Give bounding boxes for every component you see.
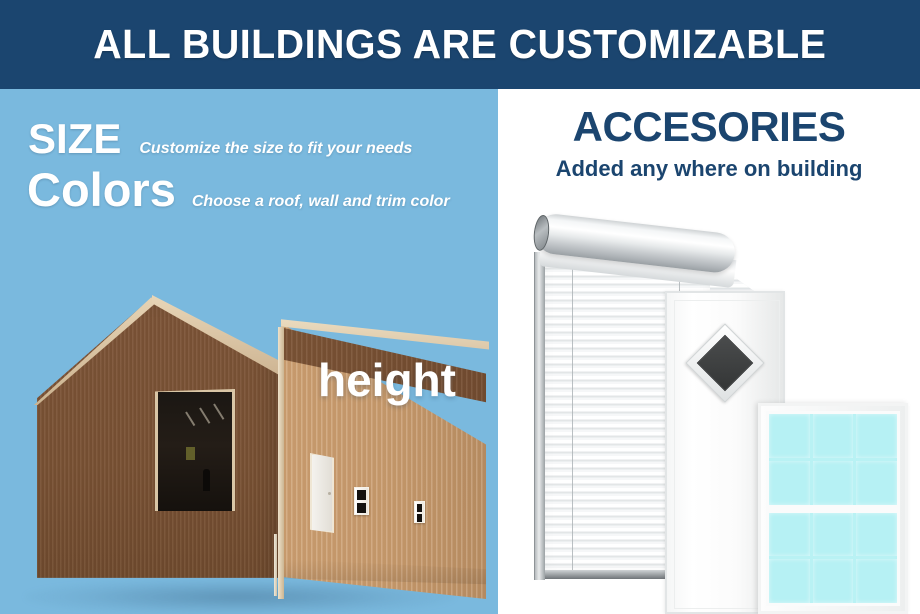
window-pane <box>769 559 810 603</box>
window-pane <box>769 513 810 557</box>
window-pane <box>856 414 897 458</box>
accessories-title: ACCESORIES <box>498 106 920 148</box>
dimension-label-height: height <box>318 357 456 403</box>
window-lower-sash <box>766 509 900 607</box>
window-pane <box>813 414 854 458</box>
window-pane <box>856 559 897 603</box>
building-interior-light <box>186 447 195 460</box>
building-garage-opening <box>155 389 235 511</box>
feature-colors-heading: Colors <box>27 166 176 213</box>
window-pane <box>813 559 854 603</box>
roll-up-door-track <box>534 252 545 580</box>
accessories-subtitle: Added any where on building <box>498 158 920 180</box>
window-upper-sash <box>766 411 900 509</box>
window-pane <box>357 490 366 500</box>
building-corner-trim <box>278 327 284 599</box>
page-title: ALL BUILDINGS ARE CUSTOMIZABLE <box>93 21 826 68</box>
window-pane <box>357 503 366 513</box>
diamond-window-glass <box>697 335 754 392</box>
promo-poster: ALL BUILDINGS ARE CUSTOMIZABLE SIZE Cust… <box>0 0 920 614</box>
window-pane <box>813 513 854 557</box>
accessory-window <box>758 403 908 614</box>
building-downspout <box>274 534 277 596</box>
building-window <box>414 501 425 523</box>
header-banner: ALL BUILDINGS ARE CUSTOMIZABLE <box>0 0 920 89</box>
roll-up-door-seam <box>572 258 573 572</box>
building-walk-door-knob <box>328 492 331 495</box>
feature-size-heading: SIZE <box>28 118 121 160</box>
feature-size: SIZE Customize the size to fit your need… <box>28 118 412 160</box>
window-pane <box>417 514 422 522</box>
window-pane <box>813 461 854 505</box>
window-pane <box>769 461 810 505</box>
building-interior-figure <box>203 469 210 491</box>
metal-building-illustration <box>0 289 498 614</box>
feature-colors-description: Choose a roof, wall and trim color <box>192 193 450 211</box>
window-pane <box>769 414 810 458</box>
feature-colors: Colors Choose a roof, wall and trim colo… <box>27 166 450 213</box>
window-pane <box>856 461 897 505</box>
left-panel-size-and-colors: SIZE Customize the size to fit your need… <box>0 89 498 614</box>
window-pane <box>856 513 897 557</box>
building-window <box>354 487 369 515</box>
window-pane <box>417 504 422 512</box>
feature-size-description: Customize the size to fit your needs <box>139 140 412 158</box>
